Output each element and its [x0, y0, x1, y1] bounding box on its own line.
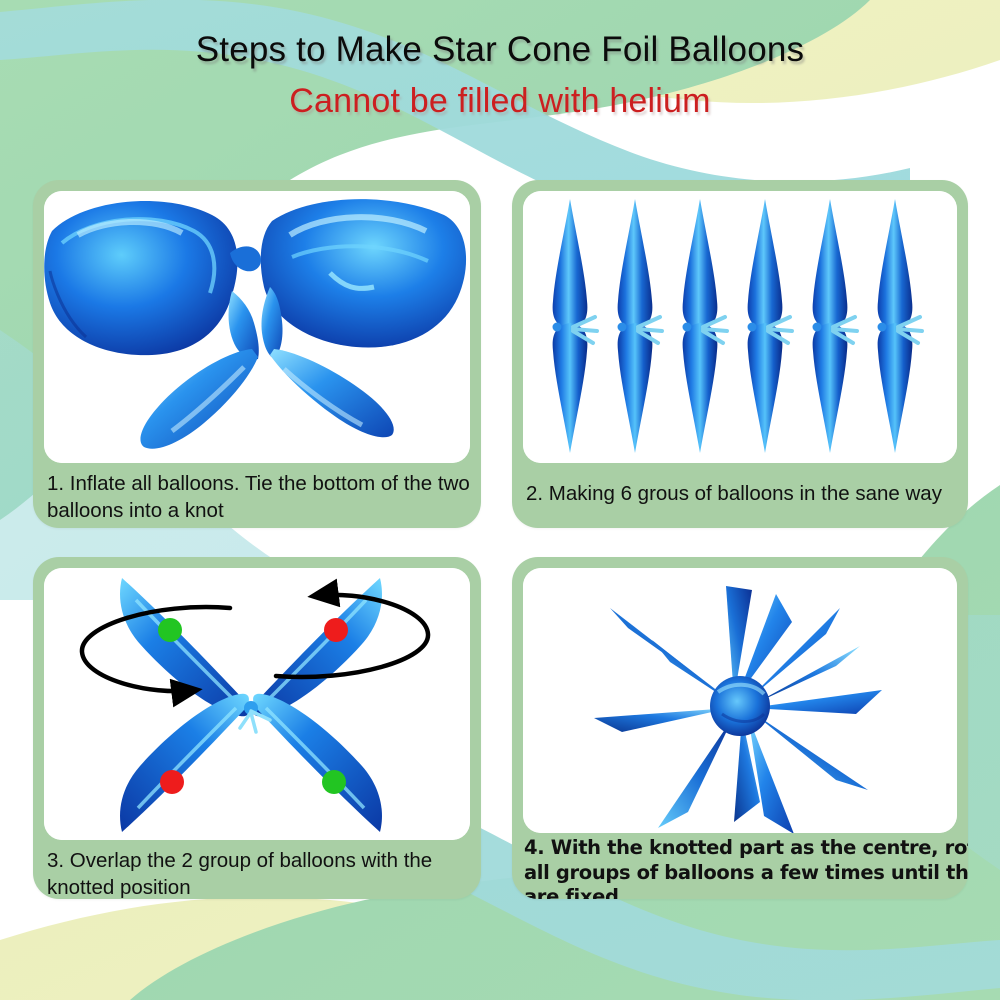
heading-block: Steps to Make Star Cone Foil Balloons Ca… — [0, 30, 1000, 121]
marker-green-bottom-right — [322, 770, 346, 794]
step-4-caption-line-3: are fixed — [524, 885, 960, 899]
step-1-caption-line-2: balloons into a knot — [47, 497, 467, 524]
warning-subtitle: Cannot be filled with helium — [0, 82, 1000, 121]
step-4-caption-line-1: 4. With the knotted part as the centre, … — [524, 836, 960, 861]
step-4-caption-line-2: all groups of balloons a few times until… — [524, 861, 960, 886]
step-4-caption: 4. With the knotted part as the centre, … — [524, 836, 960, 899]
step-card-1: 1. Inflate all balloons. Tie the bottom … — [33, 180, 481, 528]
balloon-left — [44, 201, 237, 355]
steps-grid: 1. Inflate all balloons. Tie the bottom … — [0, 0, 1000, 1000]
step-3-caption-line-2: knotted position — [47, 874, 467, 899]
step-2-illustration — [523, 191, 957, 463]
step-card-4: 4. With the knotted part as the centre, … — [512, 557, 968, 899]
step-3-caption-line-1: 3. Overlap the 2 group of balloons with … — [47, 847, 467, 874]
step-4-illustration — [523, 568, 957, 833]
step-3-caption: 3. Overlap the 2 group of balloons with … — [47, 847, 467, 899]
step-2-caption: 2. Making 6 grous of balloons in the san… — [526, 480, 954, 507]
page-title: Steps to Make Star Cone Foil Balloons — [0, 30, 1000, 70]
step-1-illustration — [44, 191, 470, 463]
marker-green-top-left — [158, 618, 182, 642]
step-1-caption-line-1: 1. Inflate all balloons. Tie the bottom … — [47, 470, 467, 497]
infographic-page: Steps to Make Star Cone Foil Balloons Ca… — [0, 0, 1000, 1000]
step-3-illustration — [44, 568, 470, 840]
marker-red-bottom-left — [160, 770, 184, 794]
step-card-2: 2. Making 6 grous of balloons in the san… — [512, 180, 968, 528]
marker-red-top-right — [324, 618, 348, 642]
step-card-3: 3. Overlap the 2 group of balloons with … — [33, 557, 481, 899]
step-1-caption: 1. Inflate all balloons. Tie the bottom … — [47, 470, 467, 524]
step-2-caption-line-1: 2. Making 6 grous of balloons in the san… — [526, 480, 954, 507]
